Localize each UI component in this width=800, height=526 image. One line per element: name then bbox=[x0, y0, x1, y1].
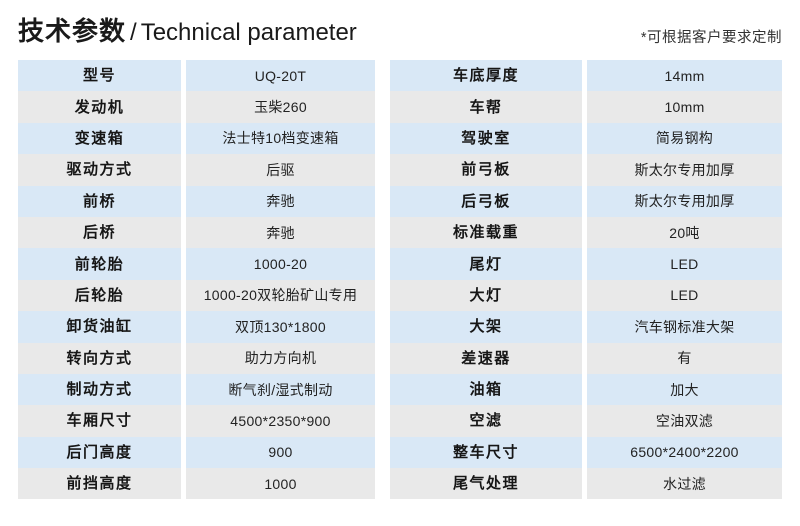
table-row: 前挡高度1000 bbox=[18, 468, 375, 499]
spec-label: 标准载重 bbox=[390, 217, 582, 248]
spec-value: LED bbox=[587, 280, 782, 311]
spec-label: 车底厚度 bbox=[390, 60, 582, 91]
page-title-separator: / bbox=[126, 19, 141, 46]
spec-label: 尾气处理 bbox=[390, 468, 582, 499]
spec-label: 车厢尺寸 bbox=[18, 405, 181, 436]
spec-value: 双顶130*1800 bbox=[186, 311, 375, 342]
table-row: 大灯LED bbox=[390, 280, 782, 311]
spec-value: 奔驰 bbox=[186, 186, 375, 217]
spec-label: 前挡高度 bbox=[18, 468, 181, 499]
spec-value: 加大 bbox=[587, 374, 782, 405]
spec-label: 大架 bbox=[390, 311, 582, 342]
spec-value: LED bbox=[587, 248, 782, 279]
spec-value: UQ-20T bbox=[186, 60, 375, 91]
spec-value: 14mm bbox=[587, 60, 782, 91]
spec-value: 1000 bbox=[186, 468, 375, 499]
table-row: 制动方式断气刹/湿式制动 bbox=[18, 374, 375, 405]
table-row: 驱动方式后驱 bbox=[18, 154, 375, 185]
spec-label: 大灯 bbox=[390, 280, 582, 311]
table-row: 空滤空油双滤 bbox=[390, 405, 782, 436]
table-row: 整车尺寸6500*2400*2200 bbox=[390, 437, 782, 468]
spec-value: 1000-20双轮胎矿山专用 bbox=[186, 280, 375, 311]
spec-value: 4500*2350*900 bbox=[186, 405, 375, 436]
page-title-english: Technical parameter bbox=[141, 19, 357, 46]
spec-value: 10mm bbox=[587, 91, 782, 122]
spec-value: 水过滤 bbox=[587, 468, 782, 499]
table-row: 前弓板斯太尔专用加厚 bbox=[390, 154, 782, 185]
table-row: 卸货油缸双顶130*1800 bbox=[18, 311, 375, 342]
spec-label: 驾驶室 bbox=[390, 123, 582, 154]
spec-label: 后轮胎 bbox=[18, 280, 181, 311]
spec-label: 后门高度 bbox=[18, 437, 181, 468]
table-row: 前桥奔驰 bbox=[18, 186, 375, 217]
spec-value: 助力方向机 bbox=[186, 343, 375, 374]
technical-parameter-page: 技术参数/Technical parameter *可根据客户要求定制 型号UQ… bbox=[0, 0, 800, 526]
spec-label: 前弓板 bbox=[390, 154, 582, 185]
spec-value: 断气刹/湿式制动 bbox=[186, 374, 375, 405]
table-row: 油箱加大 bbox=[390, 374, 782, 405]
spec-label: 前轮胎 bbox=[18, 248, 181, 279]
customization-note: *可根据客户要求定制 bbox=[641, 26, 782, 47]
table-row: 车帮10mm bbox=[390, 91, 782, 122]
table-row: 尾气处理水过滤 bbox=[390, 468, 782, 499]
spec-value: 后驱 bbox=[186, 154, 375, 185]
spec-table-left: 型号UQ-20T发动机玉柴260变速箱法士特10档变速箱驱动方式后驱前桥奔驰后桥… bbox=[18, 60, 375, 499]
spec-label: 整车尺寸 bbox=[390, 437, 582, 468]
spec-label: 车帮 bbox=[390, 91, 582, 122]
table-row: 驾驶室简易钢构 bbox=[390, 123, 782, 154]
spec-label: 驱动方式 bbox=[18, 154, 181, 185]
spec-value: 900 bbox=[186, 437, 375, 468]
spec-label: 后桥 bbox=[18, 217, 181, 248]
spec-label: 变速箱 bbox=[18, 123, 181, 154]
page-title-chinese: 技术参数 bbox=[18, 16, 126, 46]
spec-tables-container: 型号UQ-20T发动机玉柴260变速箱法士特10档变速箱驱动方式后驱前桥奔驰后桥… bbox=[0, 60, 800, 504]
page-header: 技术参数/Technical parameter *可根据客户要求定制 bbox=[0, 0, 800, 58]
table-row: 后轮胎1000-20双轮胎矿山专用 bbox=[18, 280, 375, 311]
spec-label: 转向方式 bbox=[18, 343, 181, 374]
spec-label: 空滤 bbox=[390, 405, 582, 436]
table-row: 后门高度900 bbox=[18, 437, 375, 468]
table-row: 差速器有 bbox=[390, 343, 782, 374]
table-row: 型号UQ-20T bbox=[18, 60, 375, 91]
table-row: 变速箱法士特10档变速箱 bbox=[18, 123, 375, 154]
spec-value: 法士特10档变速箱 bbox=[186, 123, 375, 154]
page-title: 技术参数/Technical parameter bbox=[18, 14, 357, 53]
spec-label: 发动机 bbox=[18, 91, 181, 122]
table-row: 车底厚度14mm bbox=[390, 60, 782, 91]
table-row: 转向方式助力方向机 bbox=[18, 343, 375, 374]
spec-table-right: 车底厚度14mm车帮10mm驾驶室简易钢构前弓板斯太尔专用加厚后弓板斯太尔专用加… bbox=[390, 60, 782, 499]
spec-value: 6500*2400*2200 bbox=[587, 437, 782, 468]
spec-value: 汽车钢标准大架 bbox=[587, 311, 782, 342]
table-row: 发动机玉柴260 bbox=[18, 91, 375, 122]
table-row: 尾灯LED bbox=[390, 248, 782, 279]
spec-label: 油箱 bbox=[390, 374, 582, 405]
spec-value: 斯太尔专用加厚 bbox=[587, 186, 782, 217]
spec-label: 制动方式 bbox=[18, 374, 181, 405]
spec-label: 后弓板 bbox=[390, 186, 582, 217]
spec-value: 1000-20 bbox=[186, 248, 375, 279]
table-row: 后桥奔驰 bbox=[18, 217, 375, 248]
spec-value: 简易钢构 bbox=[587, 123, 782, 154]
spec-value: 奔驰 bbox=[186, 217, 375, 248]
spec-label: 卸货油缸 bbox=[18, 311, 181, 342]
spec-label: 尾灯 bbox=[390, 248, 582, 279]
spec-label: 前桥 bbox=[18, 186, 181, 217]
spec-value: 20吨 bbox=[587, 217, 782, 248]
spec-label: 型号 bbox=[18, 60, 181, 91]
spec-value: 空油双滤 bbox=[587, 405, 782, 436]
spec-label: 差速器 bbox=[390, 343, 582, 374]
spec-value: 斯太尔专用加厚 bbox=[587, 154, 782, 185]
table-row: 前轮胎1000-20 bbox=[18, 248, 375, 279]
table-row: 大架汽车钢标准大架 bbox=[390, 311, 782, 342]
table-row: 标准载重20吨 bbox=[390, 217, 782, 248]
spec-value: 玉柴260 bbox=[186, 91, 375, 122]
table-row: 车厢尺寸4500*2350*900 bbox=[18, 405, 375, 436]
table-row: 后弓板斯太尔专用加厚 bbox=[390, 186, 782, 217]
spec-value: 有 bbox=[587, 343, 782, 374]
